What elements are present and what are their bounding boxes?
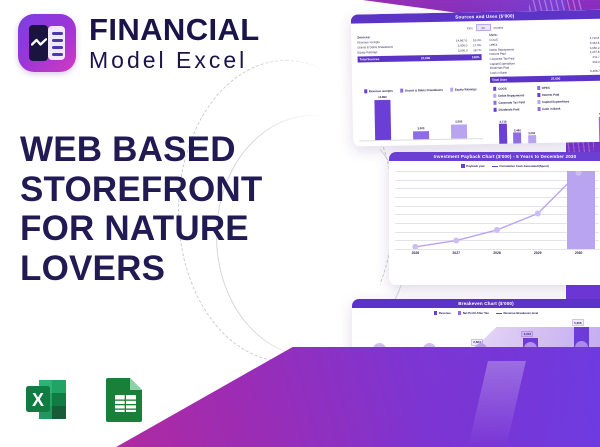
legend-item: Revenue Breakeven level [496, 311, 538, 315]
bar-value-label: 4,710 [499, 119, 506, 123]
uses-total-amount: 27,000 [551, 77, 560, 81]
sources-column: Sources: Revenue receipts14,867.053.3%Gr… [357, 33, 482, 85]
legend-swatch [492, 166, 498, 167]
legend-swatch [537, 93, 540, 96]
investment-payback-legend: Payback yearCumulative Cash Generated/(S… [389, 161, 600, 169]
legend-swatch [537, 107, 540, 110]
legend-swatch [434, 311, 437, 314]
sources-total-row: Total Sources 27,000 100% [358, 54, 482, 63]
bar-value-label: 3,460 [514, 128, 521, 132]
revenue-value-label: 5,366 [572, 319, 584, 326]
x-axis-tick: 2030 [575, 251, 583, 255]
sources-total-amount: 27,000 [421, 56, 430, 60]
bar [528, 135, 536, 146]
svg-text:X: X [32, 390, 44, 410]
x-axis-tick: 2029 [534, 251, 542, 255]
x-axis-tick: 2026 [412, 251, 420, 255]
row-amount: 3,000.0 [445, 48, 467, 52]
legend-swatch [537, 100, 540, 103]
sources-bar-chart: Revenue receiptsGrants & Debts Drawdowns… [358, 84, 483, 146]
legend-item: Capital Expenditure [537, 99, 574, 104]
bar-column: - [584, 111, 593, 147]
x-axis-tick: 2028 [493, 251, 501, 255]
sources-chart-bars: 14,8903,0005,000 [358, 92, 483, 141]
legend-item: Revenue [434, 311, 451, 315]
page-title: WEB BASED STOREFRONT FOR NATURE LOVERS [20, 130, 300, 288]
bar-value-label: 1,268 [543, 143, 550, 146]
investment-payback-plot: 600400200-(200)(400)(600)(800)(1,000)(1,… [395, 171, 599, 249]
row-label: Cash in Bank [490, 69, 578, 75]
filter-label-after: months [494, 25, 504, 29]
bar-column: 5,000 [450, 92, 467, 138]
investment-payback-title: Investment Payback Chart ($'000) - 5 Yea… [389, 152, 600, 161]
supported-apps: X [22, 373, 151, 425]
legend-swatch [450, 88, 453, 91]
bar [374, 99, 391, 139]
bar-column: 4,710 [499, 112, 508, 146]
financial-model-app-icon [18, 14, 76, 72]
bar-value-label: 3,000 [417, 126, 424, 130]
legend-swatch [537, 86, 540, 89]
bar-value-label: 5,000 [455, 120, 462, 124]
bar [499, 124, 508, 147]
bar-column: 3,050 [527, 112, 536, 147]
legend-swatch [458, 311, 461, 314]
legend-item: COGS [493, 86, 530, 91]
row-percent: 53.3% [467, 38, 481, 42]
breakeven-title: Breakeven Chart ($'000) [352, 299, 600, 308]
uses-chart-bars: 4,7103,4603,0501,268441262-5,489 [491, 110, 600, 146]
breakeven-legend: RevenueNet Profit After TaxRevenue Break… [352, 308, 600, 316]
legend-swatch [461, 164, 464, 167]
brand-name-primary: FINANCIAL [89, 14, 260, 45]
legend-item: Cash in Bank [537, 106, 574, 111]
gridline [395, 249, 599, 250]
uses-chart-legend: COGSOPEXDebts RepaymentsInterest PaidCor… [490, 82, 600, 113]
legend-item: Corporate Tax Paid [493, 100, 530, 105]
logo-list-line-3 [52, 46, 63, 49]
uses-bar-chart: COGSOPEXDebts RepaymentsInterest PaidCor… [490, 82, 600, 147]
legend-item: Dividends Paid [494, 107, 531, 112]
filter-label-before: First [467, 26, 473, 30]
legend-item: Payback year [461, 164, 484, 168]
cumulative-cash-line [395, 171, 599, 249]
bar [451, 125, 467, 139]
logo-list-line-2 [52, 39, 63, 42]
legend-swatch [493, 94, 496, 97]
bar-column: 14,890 [374, 93, 391, 139]
logo-list-line-1 [52, 32, 63, 35]
legend-swatch [364, 89, 367, 92]
legend-item: Grants & Debts Drawdowns [400, 87, 443, 92]
bar-column: 1,268 [542, 111, 551, 146]
filter-months-input[interactable]: 60 [475, 24, 490, 31]
legend-swatch [493, 101, 496, 104]
row-amount: 5,488.7 [578, 69, 600, 73]
uses-total-label: Total Uses [492, 78, 507, 82]
bar-column: 3,000 [412, 93, 429, 139]
x-axis-tick: 2027 [452, 251, 460, 255]
legend-item: Debts Repayments [493, 93, 530, 98]
bar-value-label: 3,050 [528, 131, 535, 135]
google-sheets-icon [99, 373, 151, 425]
bar [413, 131, 429, 139]
row-percent: 28.7% [467, 48, 481, 52]
legend-item: OPEX [537, 85, 574, 90]
card-sources-and-uses: Sources and Uses ($'000) First 60 months… [351, 9, 600, 146]
sources-total-label: Total Sources [360, 57, 380, 61]
bar-value-label: 14,890 [378, 95, 387, 99]
logo-list-line-4 [52, 53, 63, 56]
bar [513, 133, 521, 147]
investment-payback-x-axis: 20262027202820292030 [395, 251, 599, 255]
legend-item: Interest Paid [537, 92, 574, 97]
row-label: Equity Raisings [357, 48, 445, 54]
brand-lockup: FINANCIAL Model Excel [18, 14, 260, 72]
logo-wave-icon [31, 38, 47, 47]
promo-graphic: FINANCIAL Model Excel WEB BASED STOREFRO… [0, 0, 600, 447]
legend-swatch [496, 313, 502, 314]
bar-column: 441 [556, 111, 565, 146]
legend-item: Revenue receipts [364, 88, 393, 93]
brand-name-secondary: Model Excel [89, 49, 260, 72]
legend-item: Equity Raisings [450, 87, 477, 92]
legend-swatch [493, 87, 496, 90]
microsoft-excel-icon: X [22, 373, 74, 425]
legend-swatch [400, 89, 403, 92]
legend-swatch [494, 108, 497, 111]
sources-total-pct: 100% [472, 55, 480, 59]
legend-item: Cumulative Cash Generated/(Spent) [492, 164, 549, 168]
bar-column: 3,460 [513, 112, 522, 147]
card-investment-payback: Investment Payback Chart ($'000) - 5 Yea… [389, 152, 600, 285]
bar-column: 262 [570, 111, 579, 147]
legend-item: Net Profit After Tax [458, 311, 489, 315]
row-percent: 17.8% [467, 43, 481, 47]
uses-column: Uses: COGS4,710.824.1%OPEX3,464.819.6%De… [489, 31, 600, 83]
